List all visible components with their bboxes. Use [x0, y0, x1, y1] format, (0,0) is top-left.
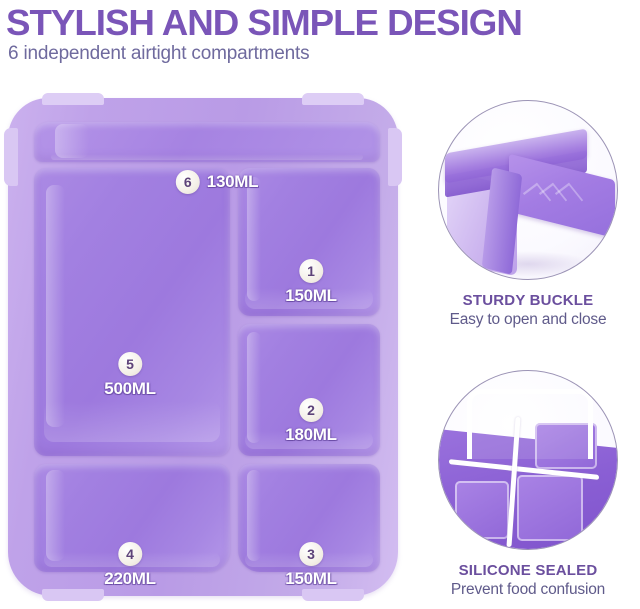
infographic-page: STYLISH AND SIMPLE DESIGN 6 independent … [0, 0, 640, 609]
feature-sturdy-buckle: STURDY BUCKLE Easy to open and close [425, 100, 631, 329]
silicone-lid-frame [467, 389, 593, 459]
silicone-cell-mid [517, 475, 583, 541]
feature-title-silicone: SILICONE SEALED [425, 562, 631, 579]
rim-tab-bottom-right [302, 589, 364, 601]
rim-tab-bottom-left [42, 589, 104, 601]
compartment-4 [34, 464, 230, 572]
side-latch-left-icon [4, 128, 18, 186]
silicone-cell-left [455, 481, 509, 539]
compartment-6 [34, 122, 380, 162]
chevron-icon-3 [555, 183, 583, 211]
lunchbox-shell: 6 130ML 1 150ML 2 180ML 3 150ML 4 [8, 98, 398, 596]
feature-title-buckle: STURDY BUCKLE [425, 292, 631, 309]
rim-tab-top-right [302, 93, 364, 105]
feature-silicone-sealed: SILICONE SEALED Prevent food confusion [425, 370, 631, 599]
rim-tab-top-left [42, 93, 104, 105]
page-title: STYLISH AND SIMPLE DESIGN [6, 2, 522, 44]
compartment-3 [238, 464, 380, 572]
lunchbox-image: 6 130ML 1 150ML 2 180ML 3 150ML 4 [6, 96, 402, 598]
feature-subtitle-buckle: Easy to open and close [425, 311, 631, 329]
feature-subtitle-silicone: Prevent food confusion [425, 581, 631, 599]
capacity-4: 220ML [104, 569, 155, 589]
compartment-1 [238, 168, 380, 316]
buckle-latch-flap [509, 154, 615, 238]
compartment-tray: 6 130ML 1 150ML 2 180ML 3 150ML 4 [34, 152, 380, 572]
compartment-5 [34, 168, 230, 456]
side-latch-right-icon [388, 128, 402, 186]
page-subtitle: 6 independent airtight compartments [8, 43, 309, 65]
capacity-3: 150ML [285, 569, 336, 589]
compartment-2 [238, 324, 380, 456]
buckle-photo [438, 100, 618, 280]
silicone-photo [438, 370, 618, 550]
